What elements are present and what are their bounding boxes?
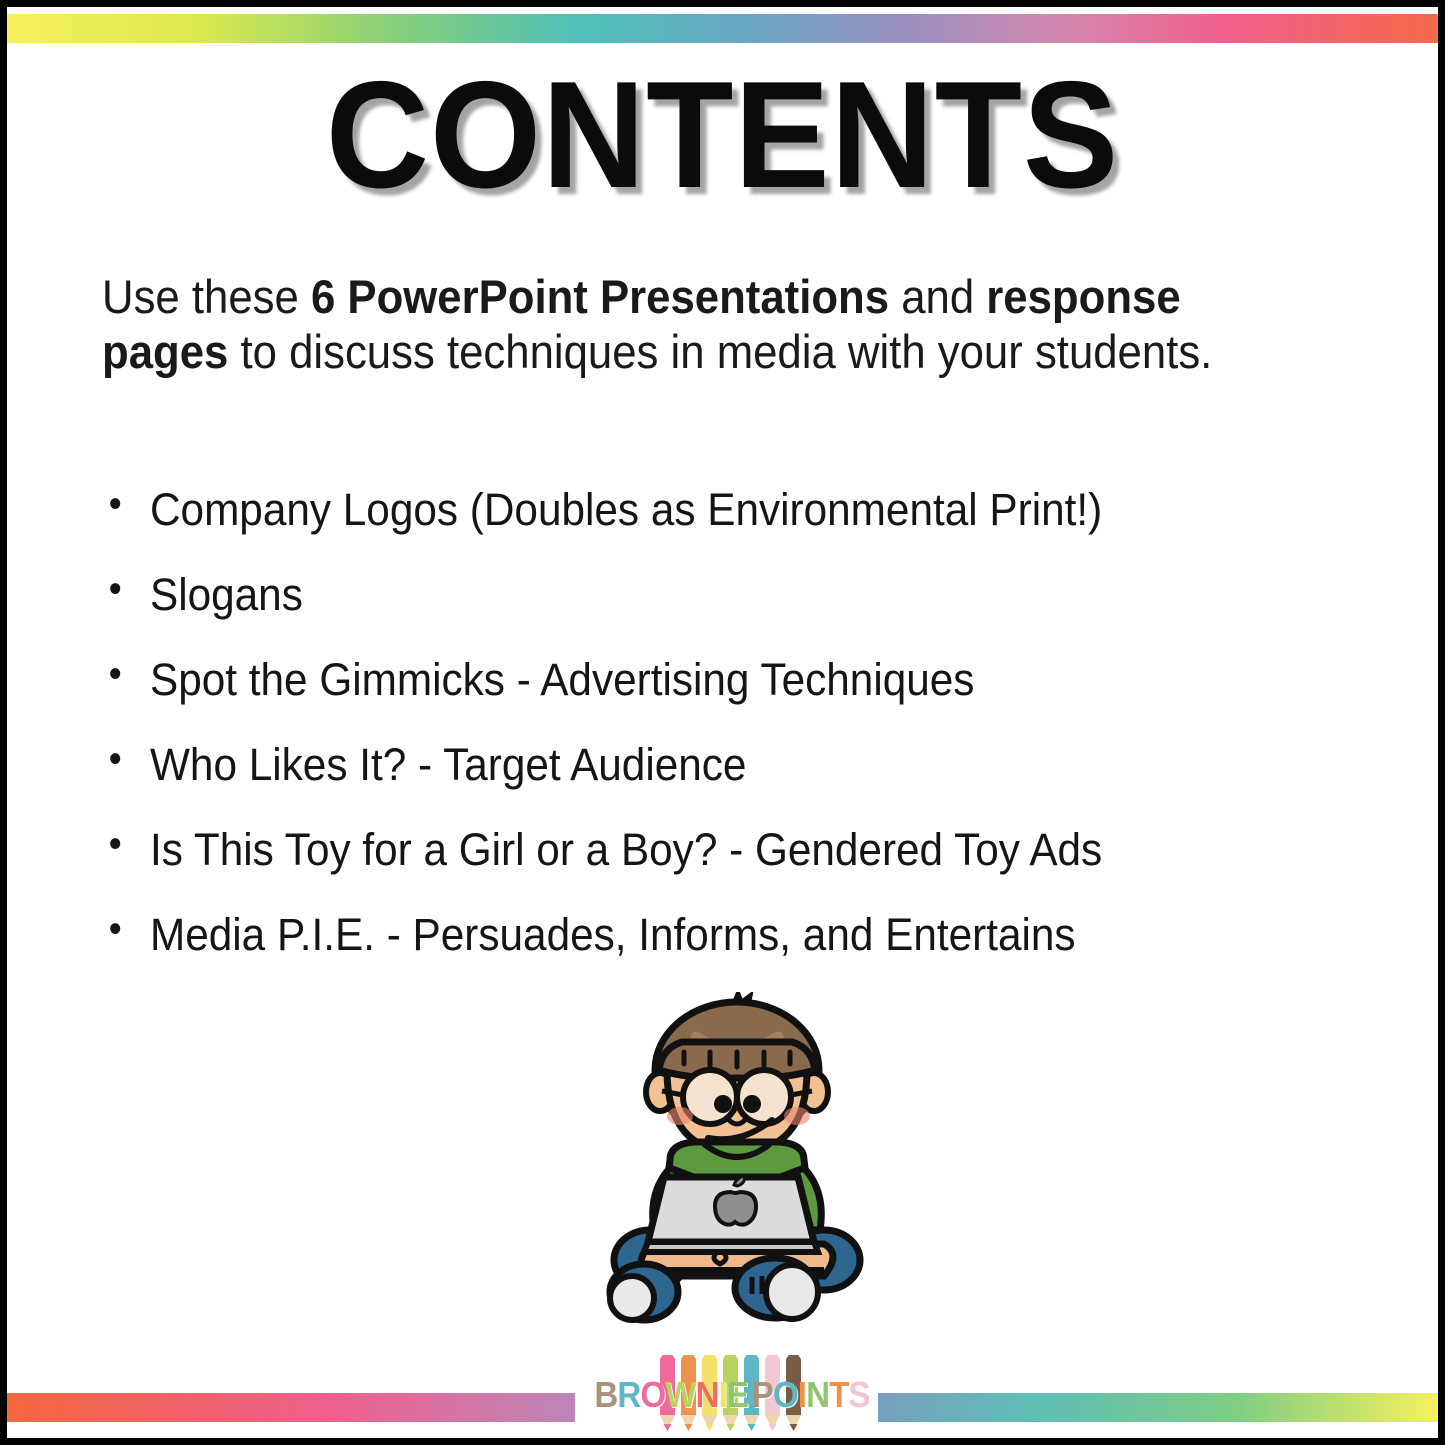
contents-bullet-label: Spot the Gimmicks - Advertising Techniqu… bbox=[150, 654, 974, 705]
contents-bullet-item: Slogans bbox=[103, 572, 1287, 617]
contents-bullet-item: Spot the Gimmicks - Advertising Techniqu… bbox=[103, 657, 1287, 702]
intro-text-part1: Use these bbox=[102, 270, 311, 323]
contents-bullet-item: Who Likes It? - Target Audience bbox=[103, 742, 1287, 787]
contents-bullet-label: Is This Toy for a Girl or a Boy? - Gende… bbox=[150, 824, 1102, 875]
contents-bullet-item: Media P.I.E. - Persuades, Informs, and E… bbox=[103, 912, 1287, 957]
intro-bold-presentations: 6 PowerPoint Presentations bbox=[311, 270, 889, 323]
contents-bullet-item: Is This Toy for a Girl or a Boy? - Gende… bbox=[103, 827, 1287, 872]
page-title: CONTENTS bbox=[50, 59, 1395, 211]
contents-bullet-label: Company Logos (Doubles as Environmental … bbox=[150, 484, 1102, 535]
boy-with-laptop-illustration bbox=[592, 992, 882, 1332]
contents-bullet-item: Company Logos (Doubles as Environmental … bbox=[103, 487, 1287, 532]
top-rainbow-bar-segment bbox=[7, 14, 1438, 43]
contents-bullet-list: Company Logos (Doubles as Environmental … bbox=[103, 487, 1363, 997]
contents-bullet-label: Media P.I.E. - Persuades, Informs, and E… bbox=[150, 909, 1076, 960]
top-rainbow-bar bbox=[7, 14, 1438, 43]
contents-bullet-label: Slogans bbox=[150, 569, 303, 620]
contents-bullet-label: Who Likes It? - Target Audience bbox=[150, 739, 746, 790]
bottom-rainbow-bar bbox=[7, 1393, 1438, 1422]
contents-slide: CONTENTS Use these 6 PowerPoint Presenta… bbox=[0, 0, 1445, 1445]
intro-text-part2: and bbox=[889, 270, 986, 323]
intro-paragraph: Use these 6 PowerPoint Presentations and… bbox=[102, 269, 1218, 380]
intro-text-part3: to discuss techniques in media with your… bbox=[228, 325, 1212, 378]
bottom-rainbow-bar-left bbox=[7, 1393, 575, 1422]
bottom-rainbow-bar-right bbox=[878, 1393, 1438, 1422]
apple-logo bbox=[715, 1192, 756, 1225]
